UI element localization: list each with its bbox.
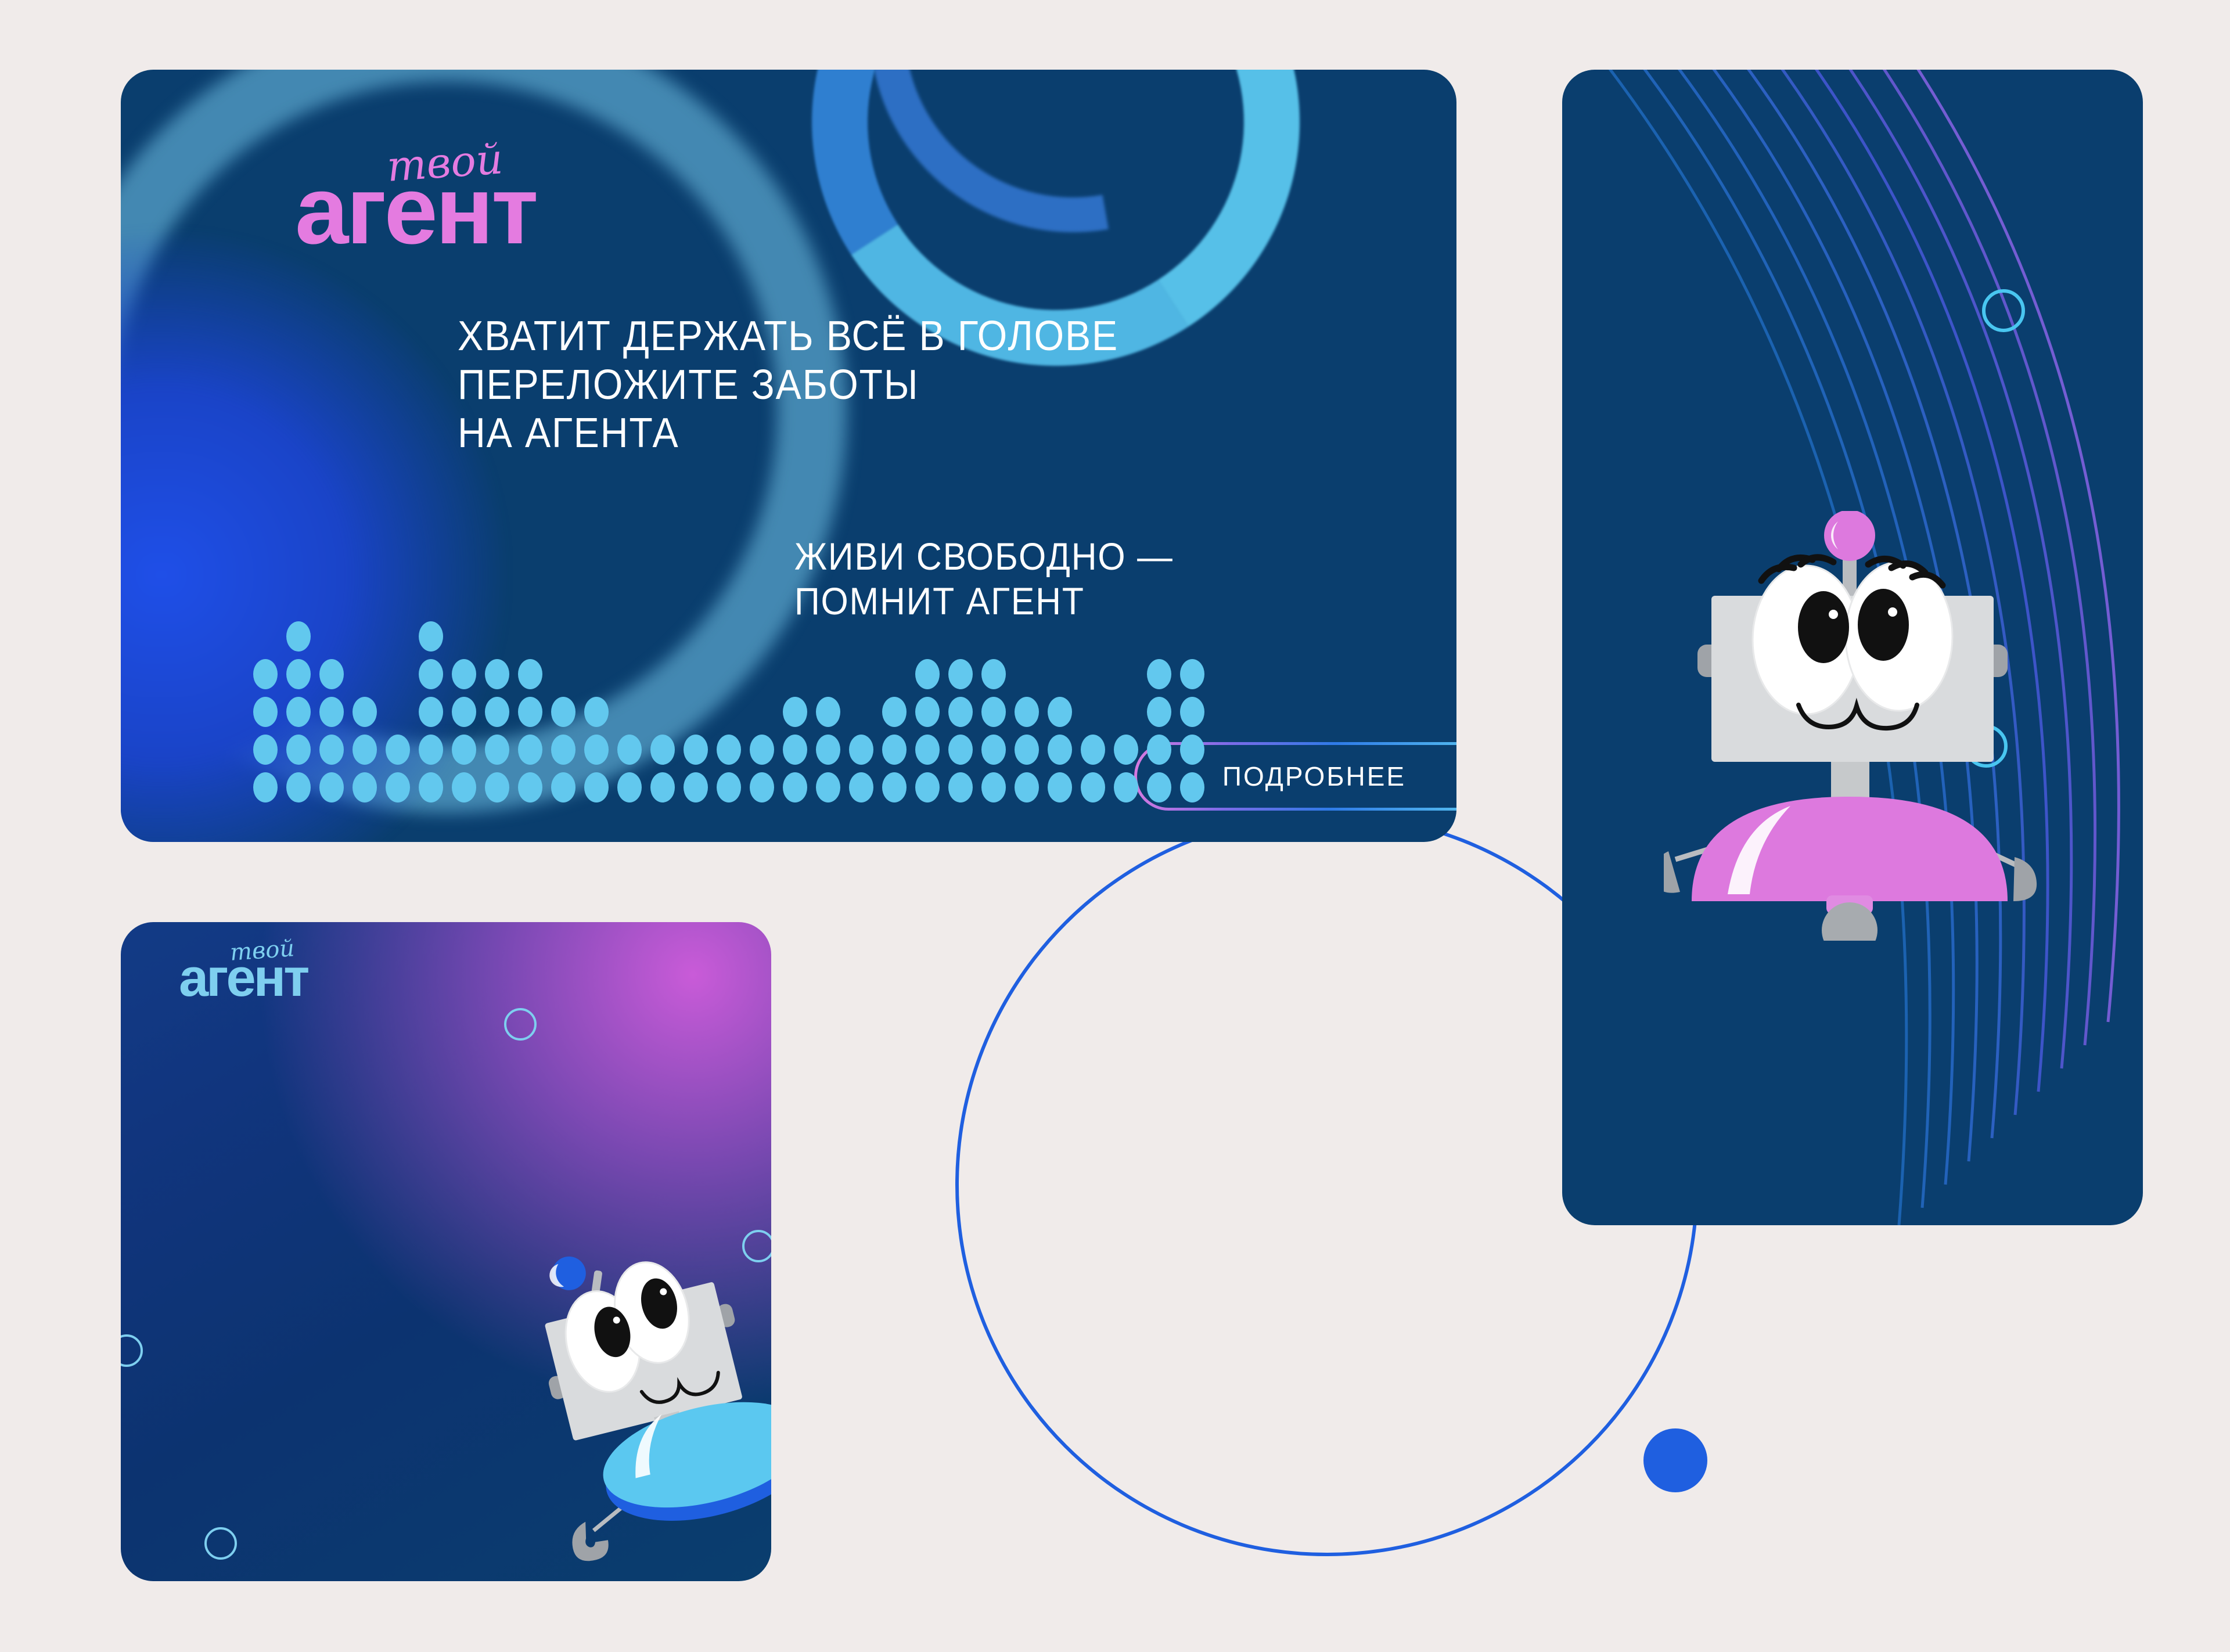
- equalizer-dot: [948, 772, 973, 802]
- equalizer-dot: [485, 735, 509, 765]
- equalizer-dot: [816, 772, 840, 802]
- equalizer-dot: [717, 735, 741, 765]
- equalizer-dot: [650, 772, 675, 802]
- equalizer-dot: [584, 772, 609, 802]
- logo-tvoy-agent[interactable]: агент твой: [179, 951, 307, 1005]
- equalizer-dot: [452, 697, 476, 727]
- equalizer-dot: [386, 772, 410, 802]
- equalizer-dot: [783, 735, 807, 765]
- equalizer-dot: [1180, 735, 1204, 765]
- logo-tvoy-agent[interactable]: агент твой: [295, 163, 536, 259]
- equalizer-dot: [518, 697, 542, 727]
- mascot-robot-tilted: [527, 1236, 771, 1581]
- circle-outline-decor: [204, 1527, 237, 1560]
- equalizer-column: [1081, 735, 1105, 802]
- equalizer-column: [816, 697, 840, 802]
- equalizer-dot: [253, 772, 278, 802]
- blue-dot-accent: [1643, 1428, 1707, 1492]
- equalizer-dot: [1180, 772, 1204, 802]
- equalizer-dot: [1081, 772, 1105, 802]
- equalizer-dot: [452, 735, 476, 765]
- equalizer-dot: [518, 659, 542, 689]
- equalizer-dot: [915, 697, 940, 727]
- equalizer-dot: [286, 772, 311, 802]
- equalizer-column: [319, 659, 344, 802]
- equalizer-dot: [948, 735, 973, 765]
- equalizer-dot: [253, 735, 278, 765]
- equalizer-dot: [286, 697, 311, 727]
- equalizer-dot: [319, 735, 344, 765]
- equalizer-dot: [452, 772, 476, 802]
- equalizer-dot: [750, 772, 774, 802]
- equalizer-column: [1048, 697, 1072, 802]
- equalizer-dot: [551, 772, 576, 802]
- equalizer-column: [551, 697, 576, 802]
- equalizer-dot: [1147, 659, 1171, 689]
- equalizer-dot: [617, 772, 642, 802]
- equalizer-column: [783, 697, 807, 802]
- hero-headline-line: ЖИВИ СВОБОДНО —: [794, 534, 1174, 579]
- equalizer-dot: [915, 659, 940, 689]
- equalizer-dot: [353, 772, 377, 802]
- equalizer-column: [1180, 659, 1204, 802]
- equalizer-column: [286, 621, 311, 802]
- mascot-klea-robot: [1664, 511, 2041, 941]
- equalizer-column: [485, 659, 509, 802]
- equalizer-dot: [485, 697, 509, 727]
- equalizer-dot: [1114, 735, 1138, 765]
- equalizer-column: [617, 735, 642, 802]
- equalizer-column: [1114, 735, 1138, 802]
- equalizer-dot: [253, 697, 278, 727]
- equalizer-dot: [1015, 697, 1039, 727]
- equalizer-dot: [419, 621, 443, 652]
- equalizer-column: [650, 735, 675, 802]
- equalizer-column: [750, 735, 774, 802]
- equalizer-dot: [584, 697, 609, 727]
- equalizer-dot: [386, 735, 410, 765]
- equalizer-column: [948, 659, 973, 802]
- equalizer-dot: [253, 659, 278, 689]
- hand-left: [567, 1517, 612, 1564]
- equalizer-column: [981, 659, 1006, 802]
- equalizer-dot: [1180, 659, 1204, 689]
- hero-headline-line: ПОМНИТ АГЕНТ: [794, 579, 1174, 624]
- equalizer-dot: [981, 659, 1006, 689]
- equalizer-dot: [1015, 735, 1039, 765]
- equalizer-column: [584, 697, 609, 802]
- equalizer-dot: [849, 735, 873, 765]
- equalizer-column: [419, 621, 443, 802]
- equalizer-dot: [981, 772, 1006, 802]
- equalizer-column: [518, 659, 542, 802]
- equalizer-dot: [684, 735, 708, 765]
- equalizer-column: [1147, 659, 1171, 802]
- equalizer-dot: [750, 735, 774, 765]
- equalizer-dot: [948, 697, 973, 727]
- equalizer-dot: [783, 772, 807, 802]
- equalizer-dot: [353, 735, 377, 765]
- equalizer-dot: [948, 659, 973, 689]
- equalizer-dot: [1015, 772, 1039, 802]
- equalizer-dot: [915, 735, 940, 765]
- equalizer-dot: [286, 659, 311, 689]
- equalizer-dot: [419, 697, 443, 727]
- logo-letter-a: а: [295, 157, 346, 264]
- equalizer-column: [717, 735, 741, 802]
- hero-headline-line: ПЕРЕЛОЖИТЕ ЗАБОТЫ: [458, 361, 1118, 410]
- birthday-banner-card[interactable]: агент твой ОПЯТЬ: [121, 922, 771, 1581]
- equalizer-dot: [518, 735, 542, 765]
- equalizer-dot: [849, 772, 873, 802]
- equalizer-dot: [882, 735, 907, 765]
- equalizer-dot: [1147, 697, 1171, 727]
- equalizer-dot: [319, 772, 344, 802]
- equalizer-dot: [1081, 735, 1105, 765]
- equalizer-dot: [1048, 772, 1072, 802]
- equalizer-dot: [485, 772, 509, 802]
- equalizer-dot: [816, 735, 840, 765]
- equalizer-column: [684, 735, 708, 802]
- equalizer-column: [849, 735, 873, 802]
- equalizer-column: [915, 659, 940, 802]
- equalizer-dot: [452, 659, 476, 689]
- equalizer-dot-pattern: [253, 621, 1204, 802]
- equalizer-dot: [783, 697, 807, 727]
- hero-headline-secondary: ЖИВИ СВОБОДНО —ПОМНИТ АГЕНТ: [794, 534, 1174, 623]
- equalizer-dot: [319, 659, 344, 689]
- hero-headline-line: НА АГЕНТА: [458, 409, 1118, 458]
- equalizer-column: [253, 659, 278, 802]
- equalizer-column: [1015, 697, 1039, 802]
- equalizer-dot: [319, 697, 344, 727]
- equalizer-dot: [915, 772, 940, 802]
- equalizer-dot: [419, 772, 443, 802]
- equalizer-dot: [1048, 735, 1072, 765]
- circle-outline-decor: [121, 1334, 143, 1367]
- equalizer-dot: [981, 735, 1006, 765]
- equalizer-dot: [816, 697, 840, 727]
- equalizer-dot: [518, 772, 542, 802]
- equalizer-dot: [717, 772, 741, 802]
- equalizer-dot: [286, 621, 311, 652]
- equalizer-dot: [650, 735, 675, 765]
- equalizer-dot: [1147, 772, 1171, 802]
- equalizer-dot: [551, 735, 576, 765]
- equalizer-dot: [882, 772, 907, 802]
- hero-banner-card[interactable]: агент твой ХВАТИТ ДЕРЖАТЬ ВСЁ В ГОЛОВЕПЕ…: [121, 70, 1456, 842]
- equalizer-column: [353, 697, 377, 802]
- mascot-banner-card[interactable]: а ЕЕ ЗОВУТ КЛЕЯ, ОНА МОЖЕТ СТАТЬ ЛИЧНЫМ …: [1562, 70, 2143, 1225]
- equalizer-dot: [551, 697, 576, 727]
- equalizer-column: [882, 697, 907, 802]
- equalizer-column: [452, 659, 476, 802]
- equalizer-dot: [1114, 772, 1138, 802]
- logo-script-tvoy: твой: [229, 935, 296, 966]
- equalizer-dot: [419, 735, 443, 765]
- logo-letter-a: а: [179, 948, 206, 1007]
- hero-headline-line: ХВАТИТ ДЕРЖАТЬ ВСЁ В ГОЛОВЕ: [458, 312, 1118, 361]
- equalizer-dot: [1147, 735, 1171, 765]
- equalizer-dot: [684, 772, 708, 802]
- equalizer-dot: [353, 697, 377, 727]
- circle-outline-decor: [504, 1008, 537, 1041]
- equalizer-dot: [1180, 697, 1204, 727]
- equalizer-dot: [419, 659, 443, 689]
- equalizer-dot: [1048, 697, 1072, 727]
- hand-right: [2013, 857, 2037, 901]
- hero-headline-primary: ХВАТИТ ДЕРЖАТЬ ВСЁ В ГОЛОВЕПЕРЕЛОЖИТЕ ЗА…: [458, 312, 1118, 458]
- equalizer-dot: [617, 735, 642, 765]
- equalizer-dot: [485, 659, 509, 689]
- hero-cta-label: ПОДРОБНЕЕ: [1222, 761, 1406, 792]
- equalizer-column: [386, 735, 410, 802]
- equalizer-dot: [882, 697, 907, 727]
- equalizer-dot: [584, 735, 609, 765]
- equalizer-dot: [981, 697, 1006, 727]
- equalizer-dot: [286, 735, 311, 765]
- logo-script-tvoy: твой: [385, 134, 504, 191]
